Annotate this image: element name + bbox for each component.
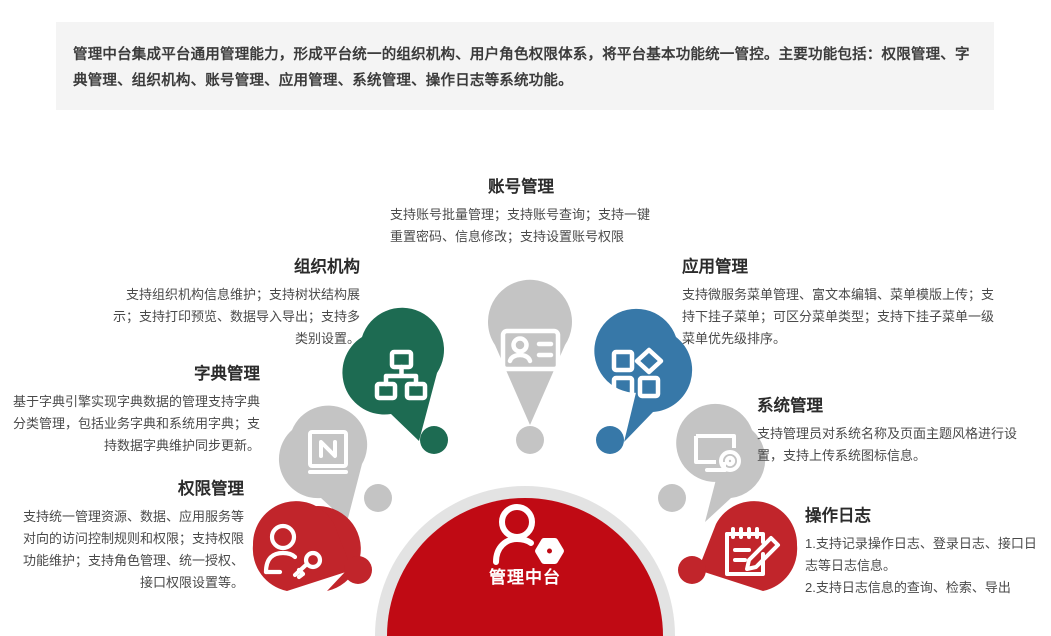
page-root: 管理中台集成平台通用管理能力，形成平台统一的组织机构、用户角色权限体系，将平台基… [0, 0, 1051, 636]
feature-block-application: 应用管理 支持微服务菜单管理、富文本编辑、菜单模版上传；支持下挂子菜单；可区分菜… [682, 256, 1002, 350]
feature-block-account: 账号管理 支持账号批量管理；支持账号查询；支持一键重置密码、信息修改；支持设置账… [390, 176, 652, 248]
pin-account-dot [516, 426, 544, 454]
feature-title-account: 账号管理 [390, 176, 652, 198]
feature-block-permission: 权限管理 支持统一管理资源、数据、应用服务等对向的访问控制规则和权限；支持权限功… [12, 478, 244, 594]
pin-org-dot [420, 426, 448, 454]
feature-desc-dictionary: 基于字典引擎实现字典数据的管理支持字典分类管理，包括业务字典和系统用字典；支持数… [12, 391, 260, 457]
feature-title-org: 组织机构 [112, 256, 360, 278]
feature-title-application: 应用管理 [682, 256, 1002, 278]
feature-block-log: 操作日志 1.支持记录操作日志、登录日志、接口日志等日志信息。 2.支持日志信息… [805, 505, 1045, 599]
feature-title-permission: 权限管理 [12, 478, 244, 500]
feature-block-dictionary: 字典管理 基于字典引擎实现字典数据的管理支持字典分类管理，包括业务字典和系统用字… [12, 363, 260, 457]
pin-account[interactable] [488, 280, 572, 454]
feature-block-system: 系统管理 支持管理员对系统名称及页面主题风格进行设置，支持上传系统图标信息。 [757, 395, 1037, 467]
feature-desc-application: 支持微服务菜单管理、富文本编辑、菜单模版上传；支持下挂子菜单；可区分菜单类型；支… [682, 284, 1002, 350]
feature-title-log: 操作日志 [805, 505, 1045, 527]
pin-application-dot [596, 426, 624, 454]
feature-title-system: 系统管理 [757, 395, 1037, 417]
pin-permission[interactable] [253, 501, 372, 591]
pin-system-dot [658, 484, 686, 512]
feature-desc-log: 1.支持记录操作日志、登录日志、接口日志等日志信息。 2.支持日志信息的查询、检… [805, 533, 1045, 599]
feature-desc-permission: 支持统一管理资源、数据、应用服务等对向的访问控制规则和权限；支持权限功能维护；支… [12, 506, 244, 594]
pin-log[interactable] [678, 501, 797, 591]
feature-title-dictionary: 字典管理 [12, 363, 260, 385]
pin-dictionary-dot [364, 484, 392, 512]
feature-block-org: 组织机构 支持组织机构信息维护；支持树状结构展示；支持打印预览、数据导入导出；支… [112, 256, 360, 350]
center-dome-label: 管理中台 [425, 563, 625, 588]
feature-desc-account: 支持账号批量管理；支持账号查询；支持一键重置密码、信息修改；支持设置账号权限 [390, 204, 652, 248]
feature-desc-system: 支持管理员对系统名称及页面主题风格进行设置，支持上传系统图标信息。 [757, 423, 1037, 467]
feature-desc-org: 支持组织机构信息维护；支持树状结构展示；支持打印预览、数据导入导出；支持多类别设… [112, 284, 360, 350]
pin-log-dot [678, 556, 706, 584]
pin-application[interactable] [594, 309, 692, 454]
pin-permission-dot [344, 556, 372, 584]
